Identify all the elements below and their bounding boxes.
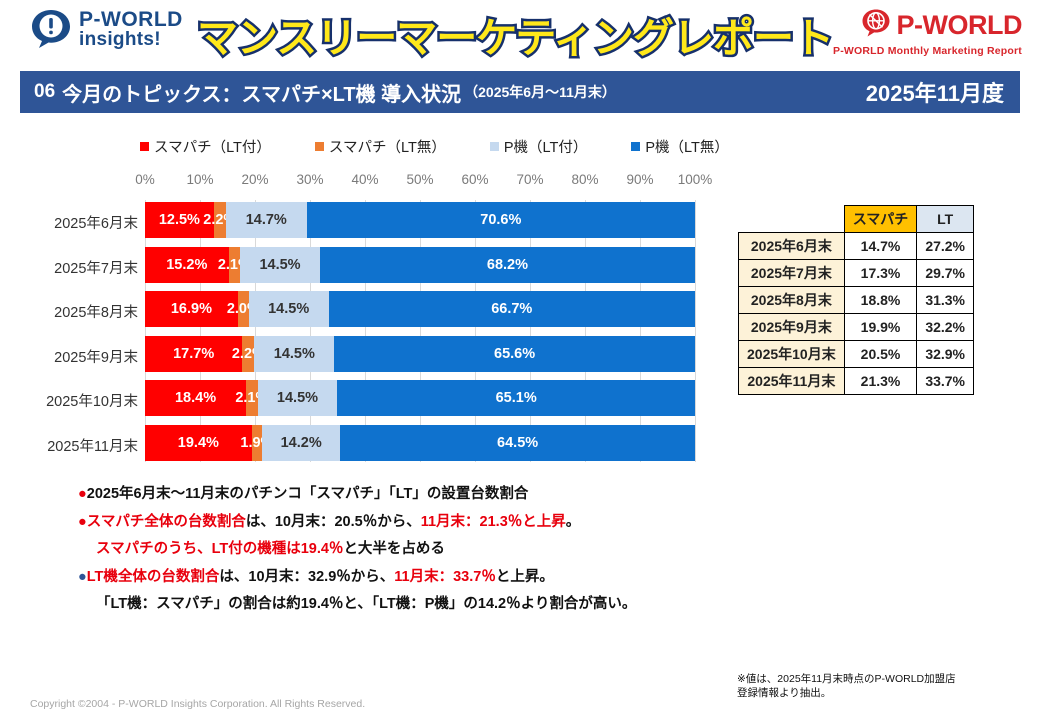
x-tick-label: 10% bbox=[186, 172, 213, 187]
x-tick-label: 30% bbox=[296, 172, 323, 187]
pworld-logo-subtitle: P-WORLD Monthly Marketing Report bbox=[833, 45, 1022, 57]
table-corner-cell bbox=[739, 206, 845, 233]
bar-segment-0: 19.4% bbox=[145, 425, 252, 461]
x-tick-label: 100% bbox=[678, 172, 713, 187]
x-tick-label: 0% bbox=[135, 172, 155, 187]
bar-row: 17.7%2.2%14.5%65.6% bbox=[145, 336, 695, 372]
commentary-text: 2025年6月末〜11月末のパチンコ「スマパチ」「LT」の設置台数割合 bbox=[87, 486, 529, 502]
table-row: 2025年11月末21.3%33.7% bbox=[739, 368, 974, 395]
table-cell: 19.9% bbox=[844, 314, 917, 341]
commentary-text: 11月末：21.3％と上昇 bbox=[421, 514, 566, 530]
gridline bbox=[585, 200, 586, 462]
report-main-title: マンスリーマーケティングレポート bbox=[215, 6, 815, 62]
legend-label: スマパチ（LT無） bbox=[329, 136, 446, 157]
bar-segment-1: 2.2% bbox=[242, 336, 254, 372]
bar-segment-0: 17.7% bbox=[145, 336, 242, 372]
bar-segment-2: 14.7% bbox=[226, 202, 307, 238]
commentary-text: LT機全体の台数割合 bbox=[87, 569, 220, 585]
x-tick-label: 80% bbox=[571, 172, 598, 187]
commentary-item-4: 「LT機：スマパチ」の割合は約19.4％と、「LT機：P機」の14.2％より割合… bbox=[96, 597, 778, 612]
legend-label: スマパチ（LT付） bbox=[154, 136, 271, 157]
gridline bbox=[695, 200, 696, 462]
legend-item-3: P機（LT無） bbox=[631, 136, 729, 157]
pworld-insights-logo: P-WORLD insights! bbox=[30, 8, 183, 50]
table-row: 2025年8月末18.8%31.3% bbox=[739, 287, 974, 314]
bar-segment-2: 14.5% bbox=[249, 291, 329, 327]
bar-row: 12.5%2.2%14.7%70.6% bbox=[145, 202, 695, 238]
legend-item-2: P機（LT付） bbox=[490, 136, 588, 157]
bar-segment-2: 14.2% bbox=[262, 425, 340, 461]
y-axis-label: 2025年7月末 bbox=[8, 257, 138, 278]
y-axis-label: 2025年11月末 bbox=[8, 435, 138, 456]
gridline bbox=[475, 200, 476, 462]
commentary-text: 11月末：33.7％ bbox=[394, 569, 496, 585]
report-period: 2025年11月度 bbox=[866, 76, 1004, 108]
legend-label: P機（LT無） bbox=[645, 136, 729, 157]
bar-segment-0: 16.9% bbox=[145, 291, 238, 327]
topic-date-range: （2025年6月〜11月末） bbox=[464, 82, 616, 102]
table-cell: 31.3% bbox=[917, 287, 974, 314]
table-cell: 27.2% bbox=[917, 233, 974, 260]
table-row: 2025年9月末19.9%32.2% bbox=[739, 314, 974, 341]
gridline bbox=[420, 200, 421, 462]
copyright-text: Copyright ©2004 - P-WORLD Insights Corpo… bbox=[30, 698, 365, 710]
bar-segment-3: 65.6% bbox=[334, 336, 695, 372]
bullet-dot-icon: ● bbox=[78, 514, 87, 530]
commentary-text: は、10月末：20.5％から、 bbox=[246, 514, 421, 530]
legend-item-1: スマパチ（LT無） bbox=[315, 136, 446, 157]
bar-segment-1: 1.9% bbox=[252, 425, 262, 461]
table-header-row: スマパチLT bbox=[739, 206, 974, 233]
legend-swatch-icon bbox=[490, 142, 499, 151]
chart-plot-area: 12.5%2.2%14.7%70.6%15.2%2.1%14.5%68.2%16… bbox=[145, 200, 695, 462]
commentary-text: スマパチ全体の台数割合 bbox=[87, 514, 246, 530]
commentary-item-3: ●LT機全体の台数割合は、10月末：32.9％から、11月末：33.7％と上昇。 bbox=[78, 570, 778, 585]
chart-legend: スマパチ（LT付）スマパチ（LT無）P機（LT付）P機（LT無） bbox=[140, 136, 729, 157]
bullet-dot-icon: ● bbox=[78, 569, 87, 585]
y-axis-label: 2025年9月末 bbox=[8, 346, 138, 367]
topic-band: 06 今月のトピックス：スマパチ×LT機 導入状況 （2025年6月〜11月末）… bbox=[20, 71, 1020, 113]
bar-segment-1: 2.2% bbox=[214, 202, 226, 238]
x-tick-label: 20% bbox=[241, 172, 268, 187]
summary-table-body: 2025年6月末14.7%27.2%2025年7月末17.3%29.7%2025… bbox=[739, 233, 974, 395]
x-tick-label: 70% bbox=[516, 172, 543, 187]
commentary-text: と大半を占める bbox=[343, 541, 445, 557]
x-tick-label: 90% bbox=[626, 172, 653, 187]
table-row-header: 2025年8月末 bbox=[739, 287, 845, 314]
table-row: 2025年10月末20.5%32.9% bbox=[739, 341, 974, 368]
bar-row: 19.4%1.9%14.2%64.5% bbox=[145, 425, 695, 461]
table-cell: 18.8% bbox=[844, 287, 917, 314]
bullet-dot-icon: ● bbox=[78, 486, 87, 502]
bar-segment-3: 66.7% bbox=[329, 291, 695, 327]
table-column-header: LT bbox=[917, 206, 974, 233]
table-cell: 21.3% bbox=[844, 368, 917, 395]
page-header: P-WORLD insights! マンスリーマーケティングレポート P-WOR… bbox=[0, 0, 1040, 68]
gridline bbox=[365, 200, 366, 462]
stacked-bar-chart: 0%10%20%30%40%50%60%70%80%90%100% 2025年6… bbox=[0, 160, 740, 470]
commentary-text: 。 bbox=[566, 514, 581, 530]
x-tick-label: 40% bbox=[351, 172, 378, 187]
table-row-header: 2025年7月末 bbox=[739, 260, 845, 287]
legend-item-0: スマパチ（LT付） bbox=[140, 136, 271, 157]
legend-swatch-icon bbox=[631, 142, 640, 151]
gridline bbox=[200, 200, 201, 462]
bar-segment-2: 14.5% bbox=[258, 380, 338, 416]
bar-segment-3: 70.6% bbox=[307, 202, 695, 238]
commentary-item-2: スマパチのうち、LT付の機種は19.4％と大半を占める bbox=[96, 542, 778, 557]
speech-bubble-exclamation-icon bbox=[30, 8, 72, 50]
table-cell: 32.9% bbox=[917, 341, 974, 368]
bar-segment-2: 14.5% bbox=[240, 247, 320, 283]
table-column-header: スマパチ bbox=[844, 206, 917, 233]
gridline bbox=[255, 200, 256, 462]
bar-row: 15.2%2.1%14.5%68.2% bbox=[145, 247, 695, 283]
commentary-item-0: ●2025年6月末〜11月末のパチンコ「スマパチ」「LT」の設置台数割合 bbox=[78, 487, 778, 502]
source-note: ※値は、2025年11月末時点のP-WORLD加盟店 登録情報より抽出。 bbox=[737, 672, 956, 700]
bar-segment-1: 2.1% bbox=[229, 247, 241, 283]
y-axis-label: 2025年6月末 bbox=[8, 212, 138, 233]
bar-segment-3: 64.5% bbox=[340, 425, 695, 461]
commentary-text: と上昇。 bbox=[496, 569, 554, 585]
chart-x-axis: 0%10%20%30%40%50%60%70%80%90%100% bbox=[145, 172, 695, 188]
pworld-logo: P-WORLD P-WORLD Monthly Marketing Report bbox=[833, 8, 1022, 57]
y-axis-label: 2025年8月末 bbox=[8, 301, 138, 322]
insights-logo-line1: P-WORLD bbox=[79, 9, 183, 30]
table-row: 2025年6月末14.7%27.2% bbox=[739, 233, 974, 260]
y-axis-label: 2025年10月末 bbox=[8, 390, 138, 411]
x-tick-label: 60% bbox=[461, 172, 488, 187]
table-row-header: 2025年9月末 bbox=[739, 314, 845, 341]
table-cell: 33.7% bbox=[917, 368, 974, 395]
x-tick-label: 50% bbox=[406, 172, 433, 187]
table-cell: 29.7% bbox=[917, 260, 974, 287]
bar-segment-3: 68.2% bbox=[320, 247, 695, 283]
bar-segment-3: 65.1% bbox=[337, 380, 695, 416]
pworld-logo-text: P-WORLD bbox=[897, 10, 1022, 41]
commentary-text: は、10月末：32.9％から、 bbox=[219, 569, 394, 585]
table-row: 2025年7月末17.3%29.7% bbox=[739, 260, 974, 287]
bar-row: 16.9%2.0%14.5%66.7% bbox=[145, 291, 695, 327]
pworld-globe-bubble-icon bbox=[861, 8, 891, 43]
bar-segment-1: 2.1% bbox=[246, 380, 258, 416]
commentary-text: 「LT機：スマパチ」の割合は約19.4％と、「LT機：P機」の14.2％より割合… bbox=[96, 596, 636, 612]
bar-segment-1: 2.0% bbox=[238, 291, 249, 327]
bar-row: 18.4%2.1%14.5%65.1% bbox=[145, 380, 695, 416]
bar-segment-0: 18.4% bbox=[145, 380, 246, 416]
table-cell: 32.2% bbox=[917, 314, 974, 341]
gridline bbox=[530, 200, 531, 462]
table-cell: 17.3% bbox=[844, 260, 917, 287]
table-row-header: 2025年6月末 bbox=[739, 233, 845, 260]
chart-y-axis-labels: 2025年6月末2025年7月末2025年8月末2025年9月末2025年10月… bbox=[0, 200, 138, 462]
table-row-header: 2025年11月末 bbox=[739, 368, 845, 395]
commentary-item-1: ●スマパチ全体の台数割合は、10月末：20.5％から、11月末：21.3％と上昇… bbox=[78, 515, 778, 530]
summary-table-head: スマパチLT bbox=[739, 206, 974, 233]
bar-segment-2: 14.5% bbox=[254, 336, 334, 372]
legend-swatch-icon bbox=[140, 142, 149, 151]
gridline bbox=[310, 200, 311, 462]
commentary-text: スマパチのうち、LT付の機種は19.4％ bbox=[96, 541, 343, 557]
topic-title: 今月のトピックス：スマパチ×LT機 導入状況 bbox=[62, 78, 461, 107]
gridline bbox=[145, 200, 146, 462]
topic-number: 06 bbox=[34, 81, 55, 103]
insights-logo-text: P-WORLD insights! bbox=[79, 9, 183, 49]
legend-swatch-icon bbox=[315, 142, 324, 151]
table-cell: 20.5% bbox=[844, 341, 917, 368]
table-cell: 14.7% bbox=[844, 233, 917, 260]
gridline bbox=[640, 200, 641, 462]
commentary-list: ●2025年6月末〜11月末のパチンコ「スマパチ」「LT」の設置台数割合●スマパ… bbox=[78, 487, 778, 625]
bar-segment-0: 15.2% bbox=[145, 247, 229, 283]
insights-logo-line2: insights! bbox=[79, 30, 183, 49]
summary-table: スマパチLT 2025年6月末14.7%27.2%2025年7月末17.3%29… bbox=[738, 205, 974, 395]
table-row-header: 2025年10月末 bbox=[739, 341, 845, 368]
legend-label: P機（LT付） bbox=[504, 136, 588, 157]
